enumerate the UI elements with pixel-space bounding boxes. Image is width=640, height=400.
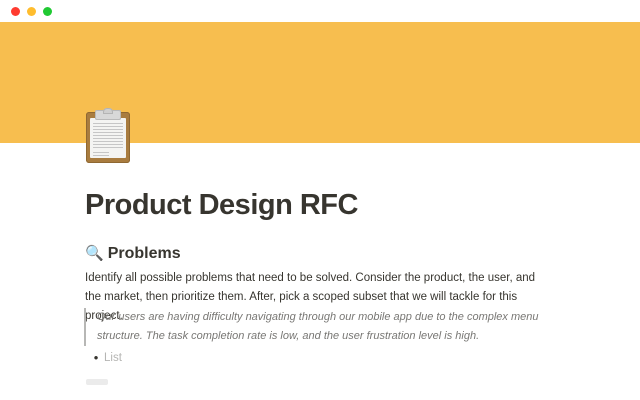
clipboard-text-lines <box>93 123 123 149</box>
list-item[interactable]: • List <box>88 349 122 367</box>
bulleted-list: • List <box>88 349 122 367</box>
empty-block-placeholder[interactable] <box>86 379 108 385</box>
minimize-window-button[interactable] <box>27 7 36 16</box>
close-window-button[interactable] <box>11 7 20 16</box>
clipboard-icon <box>86 108 130 163</box>
clipboard-clip-top <box>103 108 113 114</box>
section-heading-label: Problems <box>108 244 181 263</box>
page-title[interactable]: Product Design RFC <box>85 190 358 222</box>
section-heading-problems[interactable]: 🔍 Problems <box>85 244 181 263</box>
magnifying-glass-icon: 🔍 <box>85 246 104 261</box>
page-icon[interactable] <box>86 108 138 166</box>
maximize-window-button[interactable] <box>43 7 52 16</box>
app-window: Product Design RFC 🔍 Problems Identify a… <box>0 0 640 400</box>
clipboard-text-lines-bottom <box>93 152 109 156</box>
list-item-label: List <box>104 349 122 367</box>
bullet-point-icon: • <box>88 349 104 367</box>
example-blockquote[interactable]: Our users are having difficulty navigati… <box>84 308 544 346</box>
window-titlebar <box>0 0 640 22</box>
